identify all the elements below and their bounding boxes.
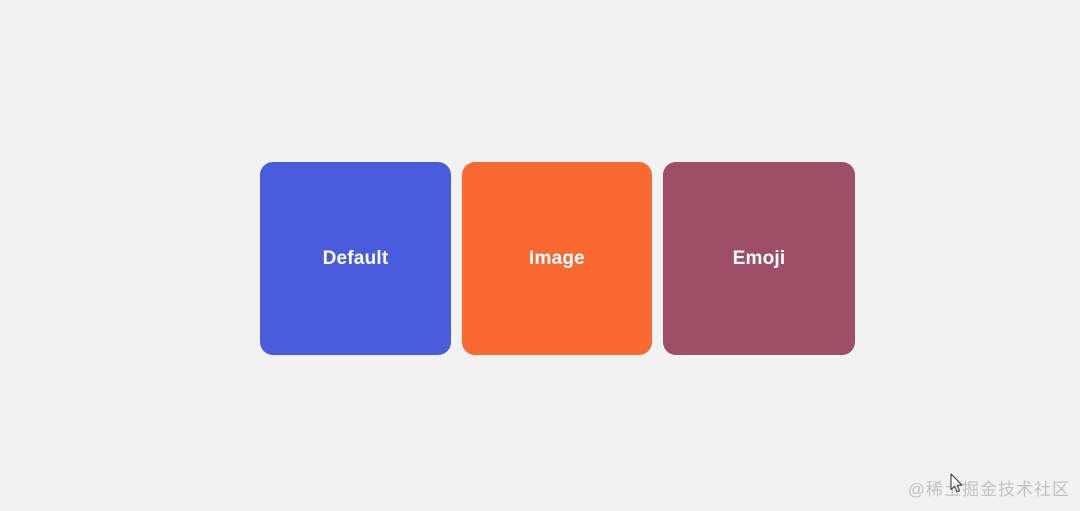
card-emoji[interactable]: Emoji (663, 162, 855, 355)
card-label: Default (323, 249, 389, 268)
watermark-text: @稀土掘金技术社区 (908, 475, 1070, 500)
card-row: Default Image Emoji (260, 162, 855, 355)
app-canvas: Default Image Emoji @稀土掘金技术社区 (0, 0, 1080, 511)
card-label: Emoji (733, 249, 786, 268)
card-image[interactable]: Image (462, 162, 652, 355)
card-label: Image (529, 249, 585, 268)
card-default[interactable]: Default (260, 162, 451, 355)
